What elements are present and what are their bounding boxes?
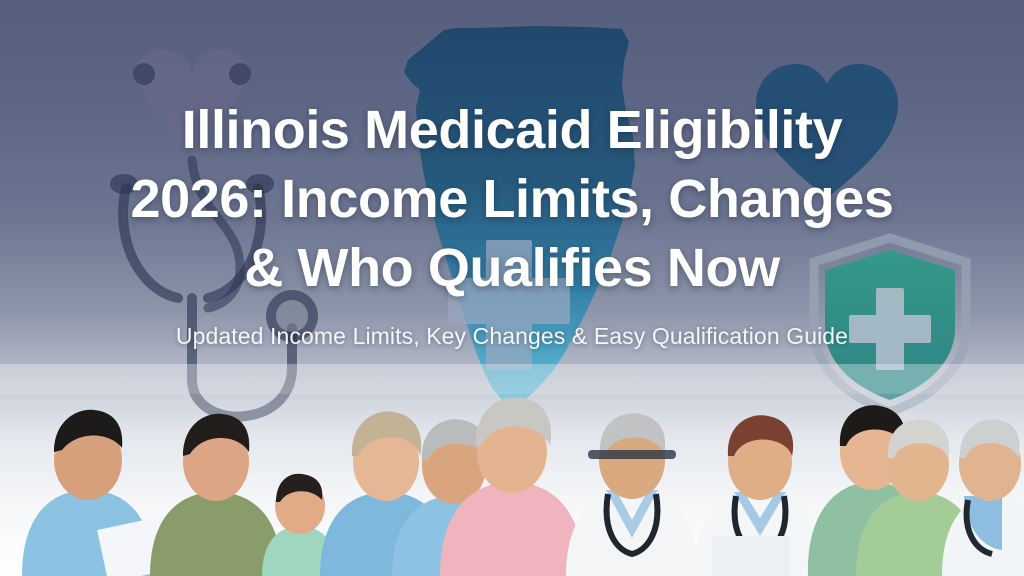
- page-subtitle: Updated Income Limits, Key Changes & Eas…: [0, 321, 1024, 351]
- title-line-3: & Who Qualifies Now: [58, 234, 966, 303]
- banner-copy: Illinois Medicaid Eligibility 2026: Inco…: [0, 96, 1024, 351]
- page-title: Illinois Medicaid Eligibility 2026: Inco…: [0, 96, 1024, 303]
- people-photo-strip: [0, 364, 1024, 576]
- title-line-2: 2026: Income Limits, Changes: [58, 165, 966, 234]
- hero-banner: Illinois Medicaid Eligibility 2026: Inco…: [0, 0, 1024, 576]
- title-line-1: Illinois Medicaid Eligibility: [58, 96, 966, 165]
